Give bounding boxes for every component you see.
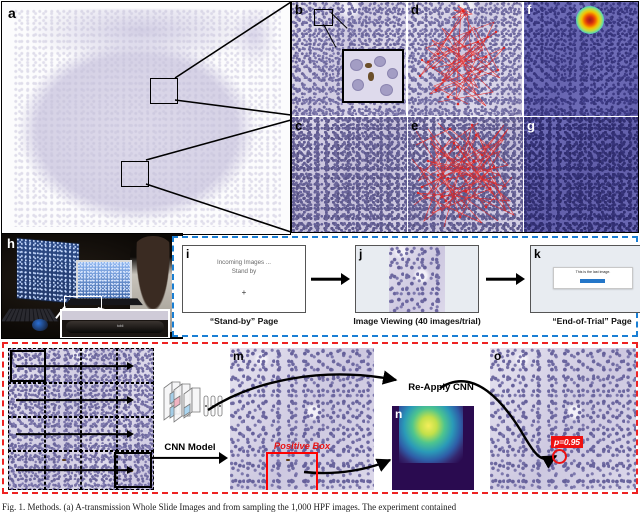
mouse xyxy=(32,319,48,331)
standby-text: Incoming Images ... Stand by xyxy=(183,258,305,277)
panel-label-j: j xyxy=(359,248,362,260)
panel-j-image-viewing: j xyxy=(355,245,479,313)
panel-l-sliding-window-tiles: l xyxy=(8,348,154,490)
panel-label-a: a xyxy=(8,6,16,20)
panel-label-d: d xyxy=(411,3,419,16)
panel-d-gaze-scanpath: d xyxy=(408,2,523,116)
detection-marker-circle xyxy=(552,449,567,464)
reapply-cnn-label: Re-Apply CNN xyxy=(376,382,506,393)
displayed-hpf-image xyxy=(389,246,445,312)
cnn-architecture-diagram xyxy=(160,374,228,434)
blue-overlay-g xyxy=(524,117,638,232)
inset-connector-bottom xyxy=(323,24,336,48)
viewing-caption: Image Viewing (40 images/trial) xyxy=(343,316,491,326)
panel-c-hpf-image: c xyxy=(292,117,407,232)
panel-label-m: m xyxy=(233,350,244,362)
experiment-flow-container: Incoming Images ... Stand by + i “Stand-… xyxy=(172,236,638,337)
keyboard xyxy=(1,309,59,322)
scanpath-overlay-d xyxy=(408,2,523,116)
roi-box-upper xyxy=(150,78,178,104)
probability-badge: p=0.95 xyxy=(551,436,583,448)
figure-root: a b xyxy=(0,0,640,514)
inset-magnified-view xyxy=(342,49,404,103)
cnn-model-label: CNN Model xyxy=(154,442,226,453)
end-of-trial-dialog: This is the last image. xyxy=(553,267,633,289)
panel-h-eyetracking-setup-photo: tobii h xyxy=(1,233,183,339)
panel-m-positive-box-detection: Positive Box m xyxy=(230,348,374,490)
panel-n-probability-heatmap: n xyxy=(392,406,474,490)
panel-group-bcdefg: b xyxy=(291,1,639,233)
positive-box-rectangle xyxy=(266,452,318,490)
figure-caption: Fig. 1. Methods. (a) A-transmission Whol… xyxy=(2,500,638,514)
end-of-trial-caption: “End-of-Trial” Page xyxy=(530,316,640,326)
panel-label-k: k xyxy=(534,248,541,260)
panel-k-end-of-trial-page: This is the last image. k xyxy=(530,245,640,313)
whole-slide-texture xyxy=(14,9,282,227)
eyetracker-magnified: tobii xyxy=(60,309,170,339)
panel-label-o: o xyxy=(494,350,501,362)
dialog-ok-button[interactable] xyxy=(580,279,605,283)
scanpath-overlay-e xyxy=(408,117,523,232)
roi-box-lower xyxy=(121,161,149,187)
panel-label-e: e xyxy=(411,119,418,132)
positive-box-label: Positive Box xyxy=(240,440,364,451)
panel-label-f: f xyxy=(527,3,531,16)
gaze-hotspot xyxy=(576,6,604,34)
standby-caption: “Stand-by” Page xyxy=(182,316,306,326)
panel-label-l: l xyxy=(10,349,13,361)
mitotic-figure xyxy=(365,63,372,68)
panel-b-hpf-image: b xyxy=(292,2,407,116)
panel-label-h: h xyxy=(7,237,15,250)
panel-label-c: c xyxy=(295,119,302,132)
panel-a-whole-slide-image: a xyxy=(1,1,291,235)
mitotic-figure-2 xyxy=(368,72,374,81)
fixation-cross: + xyxy=(183,288,305,297)
panel-e-gaze-scanpath: e xyxy=(408,117,523,232)
panel-label-b: b xyxy=(295,3,303,16)
panel-label-g: g xyxy=(527,119,535,132)
eyetracker-bar xyxy=(66,321,164,333)
panel-label-i: i xyxy=(186,248,189,260)
panel-i-standby-page: Incoming Images ... Stand by + i xyxy=(182,245,306,313)
panel-g-attention-heatmap: g xyxy=(524,117,638,232)
eyetracker-brand-label: tobii xyxy=(117,324,123,328)
panel-f-attention-heatmap: f xyxy=(524,2,638,116)
dialog-message: This is the last image. xyxy=(554,270,632,274)
heatmap-peak xyxy=(399,406,463,463)
large-monitor xyxy=(16,237,80,305)
eyetracker-highlight-box xyxy=(64,296,102,309)
panel-label-n: n xyxy=(395,408,402,420)
cnn-pipeline-container: l xyxy=(2,342,638,494)
panel-o-final-detection: p=0.95 o xyxy=(490,348,636,490)
